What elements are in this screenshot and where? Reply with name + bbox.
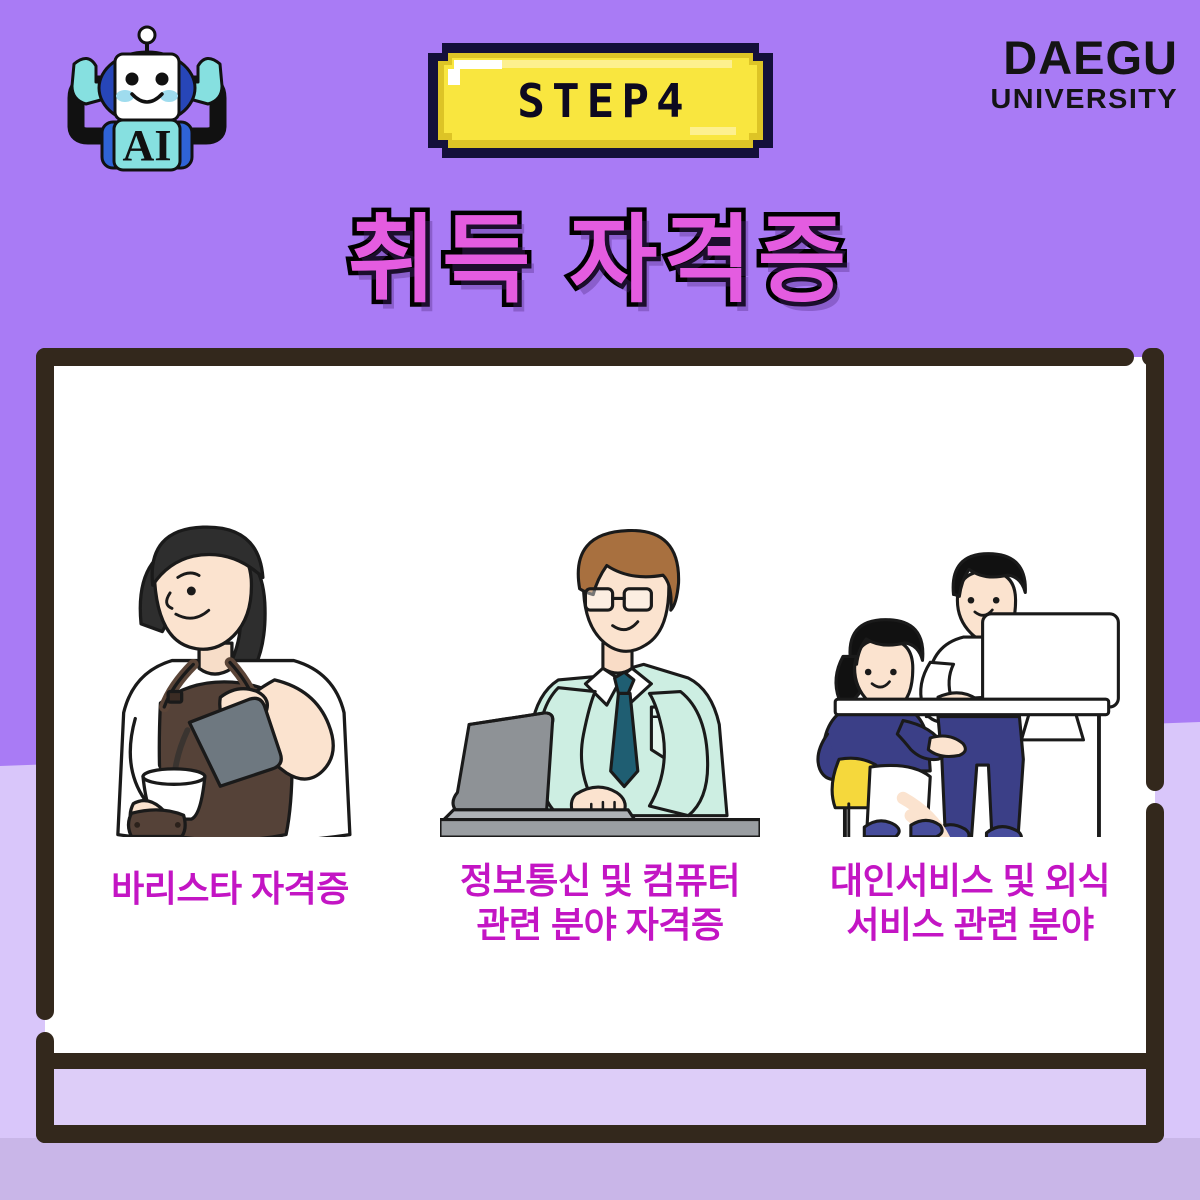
step-badge: STEP4 xyxy=(428,43,773,158)
card-border-right-upper xyxy=(1146,348,1164,791)
university-name: DAEGU xyxy=(996,34,1178,81)
card-border-right-lower xyxy=(1146,803,1164,1143)
content-card: 바리스타 자격증 xyxy=(36,348,1164,1143)
step-badge-label: STEP4 xyxy=(428,43,773,158)
certificate-caption: 바리스타 자격증 xyxy=(111,867,349,911)
poster-root: AI STEP4 DAEGU UNIVERSITY 취득 자격증 xyxy=(0,0,1200,1200)
laptop-worker-illustration-icon xyxy=(415,487,785,837)
ai-robot-mascot-icon: AI xyxy=(52,22,242,177)
card-border-top xyxy=(36,348,1134,366)
card-border-bottom xyxy=(36,1125,1164,1143)
mascot-ai-label: AI xyxy=(123,121,172,170)
card-bottom-strip xyxy=(45,1060,1155,1134)
daegu-university-logo: DAEGU UNIVERSITY xyxy=(996,34,1178,113)
barista-illustration-icon xyxy=(45,487,415,837)
certificate-item-service: 대인서비스 및 외식 서비스 관련 분야 xyxy=(785,357,1155,1057)
header: AI STEP4 DAEGU UNIVERSITY xyxy=(0,0,1200,180)
background-bottom-band xyxy=(0,1138,1200,1200)
card-border-left-lower xyxy=(36,1032,54,1143)
certificate-item-it: 정보통신 및 컴퓨터 관련 분야 자격증 xyxy=(415,357,785,1057)
certificate-caption: 대인서비스 및 외식 서비스 관련 분야 xyxy=(830,859,1110,947)
certificate-columns: 바리스타 자격증 xyxy=(45,357,1155,1057)
certificate-caption: 정보통신 및 컴퓨터 관련 분야 자격증 xyxy=(460,859,740,947)
certificate-item-barista: 바리스타 자격증 xyxy=(45,357,415,1057)
office-pair-illustration-icon xyxy=(785,487,1155,837)
card-border-left-upper xyxy=(36,348,54,1020)
page-title: 취득 자격증 xyxy=(0,182,1200,321)
university-subtitle: UNIVERSITY xyxy=(991,85,1178,113)
